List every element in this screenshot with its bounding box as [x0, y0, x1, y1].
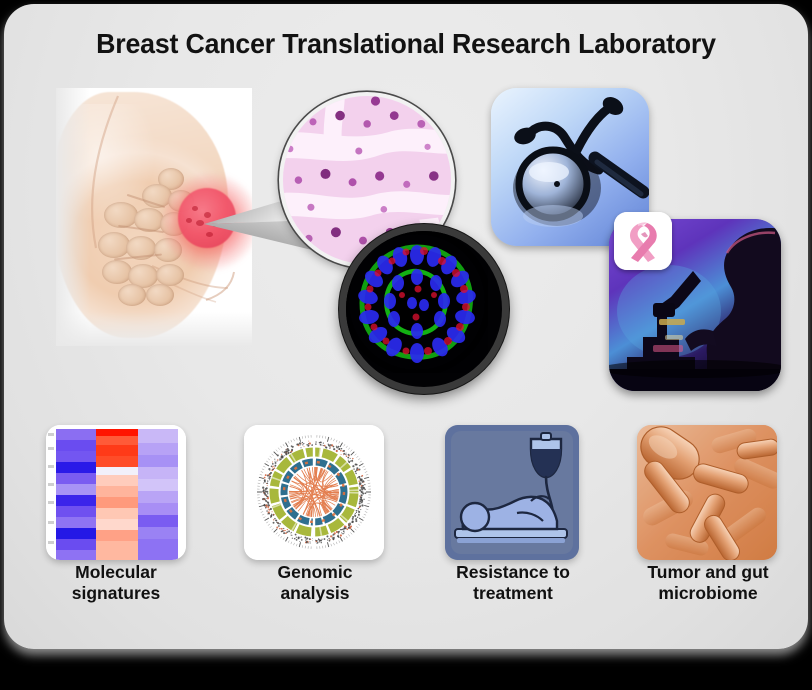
heatmap-graphic — [46, 425, 186, 560]
lobule — [118, 284, 146, 306]
caption-molecular-signatures: Molecular signatures — [26, 562, 206, 604]
fluorescence-texture — [346, 231, 488, 373]
bacteria-micrograph-thumbnail — [637, 425, 777, 560]
lobule — [146, 284, 174, 306]
circos-graphic — [244, 425, 384, 560]
heatmap-thumbnail — [46, 425, 186, 560]
page-title: Breast Cancer Translational Research Lab… — [22, 28, 790, 60]
lobule — [104, 202, 138, 228]
lobule — [156, 264, 184, 286]
tumor-speck — [192, 206, 198, 211]
infusion-graphic — [445, 425, 579, 560]
pink-ribbon-icon — [614, 212, 672, 270]
caption-resistance-to-treatment: Resistance to treatment — [424, 562, 602, 604]
caption-tumor-and-gut-microbiome: Tumor and gut microbiome — [619, 562, 797, 604]
caption-genomic-analysis: Genomic analysis — [226, 562, 404, 604]
circos-plot-thumbnail — [244, 425, 384, 560]
illustration-bottom-fade — [56, 312, 252, 346]
bacteria-graphic — [637, 425, 777, 560]
tumor-speck — [186, 218, 192, 223]
infusion-patient-icon — [445, 425, 579, 560]
poster-panel: Breast Cancer Translational Research Lab… — [4, 4, 808, 649]
immunofluorescence-micrograph — [339, 224, 509, 394]
lobule — [98, 232, 130, 258]
illustration-left-fade — [56, 88, 90, 346]
ribbon-graphic — [614, 212, 672, 270]
